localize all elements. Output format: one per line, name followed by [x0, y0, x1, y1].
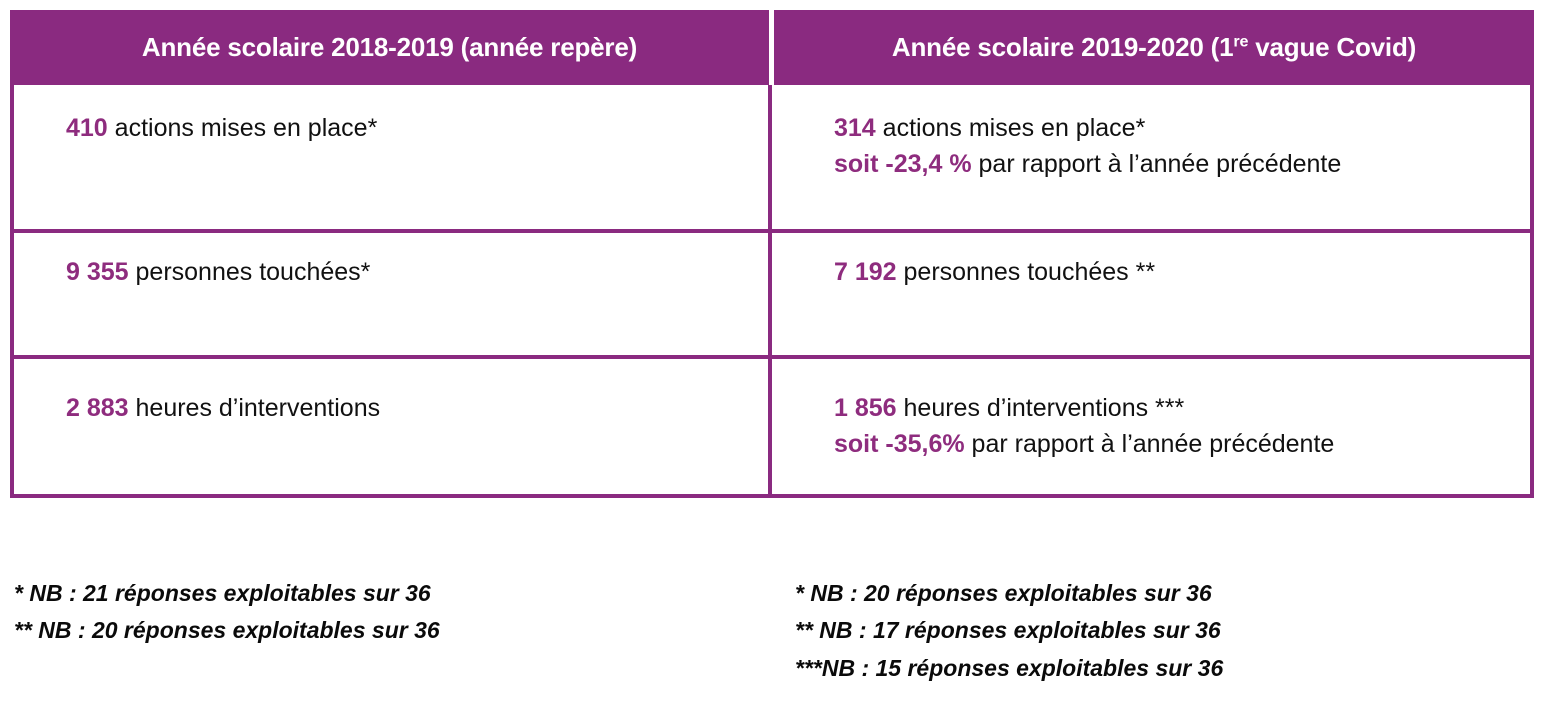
- stat-value: 7 192: [834, 258, 897, 286]
- stat-label: heures d’interventions ***: [897, 394, 1185, 422]
- comparison-table: Année scolaire 2018-2019 (année repère) …: [10, 10, 1534, 498]
- footnotes-right-column: * NB : 20 réponses exploitables sur 36 *…: [795, 575, 1223, 687]
- footnote-item: ***NB : 15 réponses exploitables sur 36: [795, 650, 1223, 687]
- stat-line: 314 actions mises en place*: [834, 111, 1530, 147]
- stat-value: 2 883: [66, 394, 129, 422]
- stat-line: 9 355 personnes touchées*: [66, 255, 768, 291]
- cell-people-2019: 7 192 personnes touchées **: [772, 233, 1530, 355]
- stat-value: 9 355: [66, 258, 129, 286]
- stat-line: 410 actions mises en place*: [66, 111, 768, 147]
- table-header-row: Année scolaire 2018-2019 (année repère) …: [10, 10, 1534, 85]
- table-header-cell-2018-2019: Année scolaire 2018-2019 (année repère): [10, 10, 769, 85]
- header-right-superscript: re: [1233, 32, 1248, 50]
- table-row: 410 actions mises en place* 314 actions …: [10, 85, 1534, 233]
- cell-hours-2019: 1 856 heures d’interventions *** soit -3…: [772, 359, 1530, 494]
- table-row: 9 355 personnes touchées* 7 192 personne…: [10, 233, 1534, 359]
- table-header-label-left: Année scolaire 2018-2019 (année repère): [142, 32, 637, 63]
- stat-label: actions mises en place*: [876, 114, 1146, 142]
- variation-label: par rapport à l’année précédente: [965, 430, 1335, 458]
- cell-hours-2018: 2 883 heures d’interventions: [14, 359, 772, 494]
- footnotes: * NB : 21 réponses exploitables sur 36 *…: [0, 575, 1544, 704]
- footnote-item: * NB : 20 réponses exploitables sur 36: [795, 575, 1223, 612]
- stat-value: 1 856: [834, 394, 897, 422]
- stat-label: heures d’interventions: [129, 394, 381, 422]
- cell-people-2018: 9 355 personnes touchées*: [14, 233, 772, 355]
- variation-value: soit -35,6%: [834, 430, 965, 458]
- table-header-label-right: Année scolaire 2019-2020 (1re vague Covi…: [892, 32, 1416, 63]
- stat-label: actions mises en place*: [108, 114, 378, 142]
- footnote-item: * NB : 21 réponses exploitables sur 36: [14, 575, 440, 612]
- stat-value: 410: [66, 114, 108, 142]
- footnote-item: ** NB : 20 réponses exploitables sur 36: [14, 612, 440, 649]
- cell-actions-2018: 410 actions mises en place*: [14, 85, 772, 229]
- variation-value: soit -23,4 %: [834, 150, 972, 178]
- footnote-item: ** NB : 17 réponses exploitables sur 36: [795, 612, 1223, 649]
- stat-value: 314: [834, 114, 876, 142]
- header-right-suffix: vague Covid): [1248, 32, 1416, 62]
- stat-label: personnes touchées*: [129, 258, 371, 286]
- stat-line: 2 883 heures d’interventions: [66, 391, 768, 427]
- table-header-cell-2019-2020: Année scolaire 2019-2020 (1re vague Covi…: [774, 10, 1534, 85]
- stat-line-variation: soit -35,6% par rapport à l’année précéd…: [834, 427, 1530, 463]
- stat-line: 7 192 personnes touchées **: [834, 255, 1530, 291]
- cell-actions-2019: 314 actions mises en place* soit -23,4 %…: [772, 85, 1530, 229]
- stat-line-variation: soit -23,4 % par rapport à l’année précé…: [834, 147, 1530, 183]
- table-row: 2 883 heures d’interventions 1 856 heure…: [10, 359, 1534, 498]
- stat-label: personnes touchées **: [897, 258, 1156, 286]
- stat-line: 1 856 heures d’interventions ***: [834, 391, 1530, 427]
- variation-label: par rapport à l’année précédente: [972, 150, 1342, 178]
- header-right-prefix: Année scolaire 2019-2020 (1: [892, 32, 1233, 62]
- footnotes-left-column: * NB : 21 réponses exploitables sur 36 *…: [14, 575, 440, 650]
